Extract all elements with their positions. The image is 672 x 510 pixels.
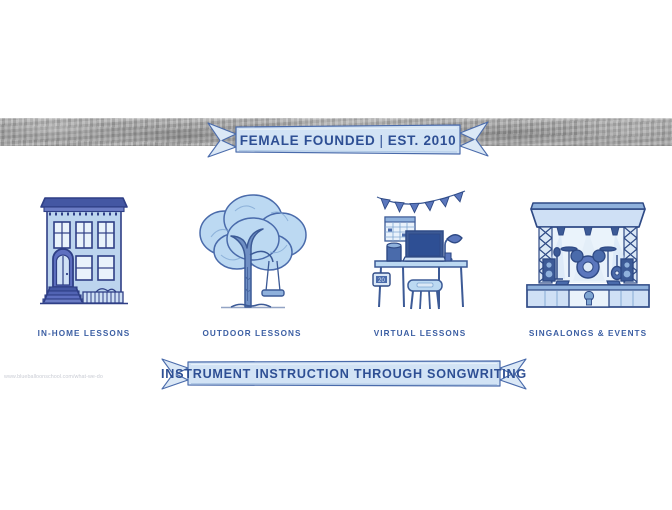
card-in-home-lessons[interactable]: IN-HOME LESSONS [0, 168, 168, 338]
brownstone-house-icon [30, 189, 138, 321]
ribbon-banner-bottom: INSTRUMENT INSTRUCTION THROUGH SONGWRITI… [160, 357, 528, 391]
ribbon-banner-top: FEMALE FOUNDED|EST. 2010 [206, 120, 490, 160]
desk-laptop-icon: 20 [359, 181, 481, 321]
tree-with-swing-icon [191, 189, 313, 321]
concert-stage-icon [513, 193, 663, 321]
card-outdoor-lessons[interactable]: OUTDOOR LESSONS [168, 168, 336, 338]
card-label-singalongs-events: SINGALONGS & EVENTS [529, 329, 647, 338]
ribbon-bottom-text: INSTRUMENT INSTRUCTION THROUGH SONGWRITI… [161, 367, 527, 381]
watermark-url: www.blueballoonschool.com/what-we-do [4, 374, 103, 380]
service-cards-row: IN-HOME LESSONS [0, 168, 672, 338]
card-art-virtual: 20 [359, 181, 481, 321]
ribbon-top-text-after: EST. 2010 [388, 133, 457, 148]
card-art-in-home [30, 181, 138, 321]
card-art-outdoor [191, 181, 313, 321]
card-label-virtual-lessons: VIRTUAL LESSONS [374, 329, 466, 338]
ribbon-top-text: FEMALE FOUNDED|EST. 2010 [240, 133, 457, 148]
card-art-singalongs [513, 181, 663, 321]
card-singalongs-events[interactable]: SINGALONGS & EVENTS [504, 168, 672, 338]
card-label-outdoor-lessons: OUTDOOR LESSONS [203, 329, 302, 338]
card-label-in-home-lessons: IN-HOME LESSONS [38, 329, 131, 338]
ribbon-top-separator: | [375, 133, 387, 148]
ribbon-top-text-before: FEMALE FOUNDED [240, 133, 376, 148]
card-virtual-lessons[interactable]: 20 VIRTUAL LESSONS [336, 168, 504, 338]
svg-text:20: 20 [378, 278, 385, 284]
